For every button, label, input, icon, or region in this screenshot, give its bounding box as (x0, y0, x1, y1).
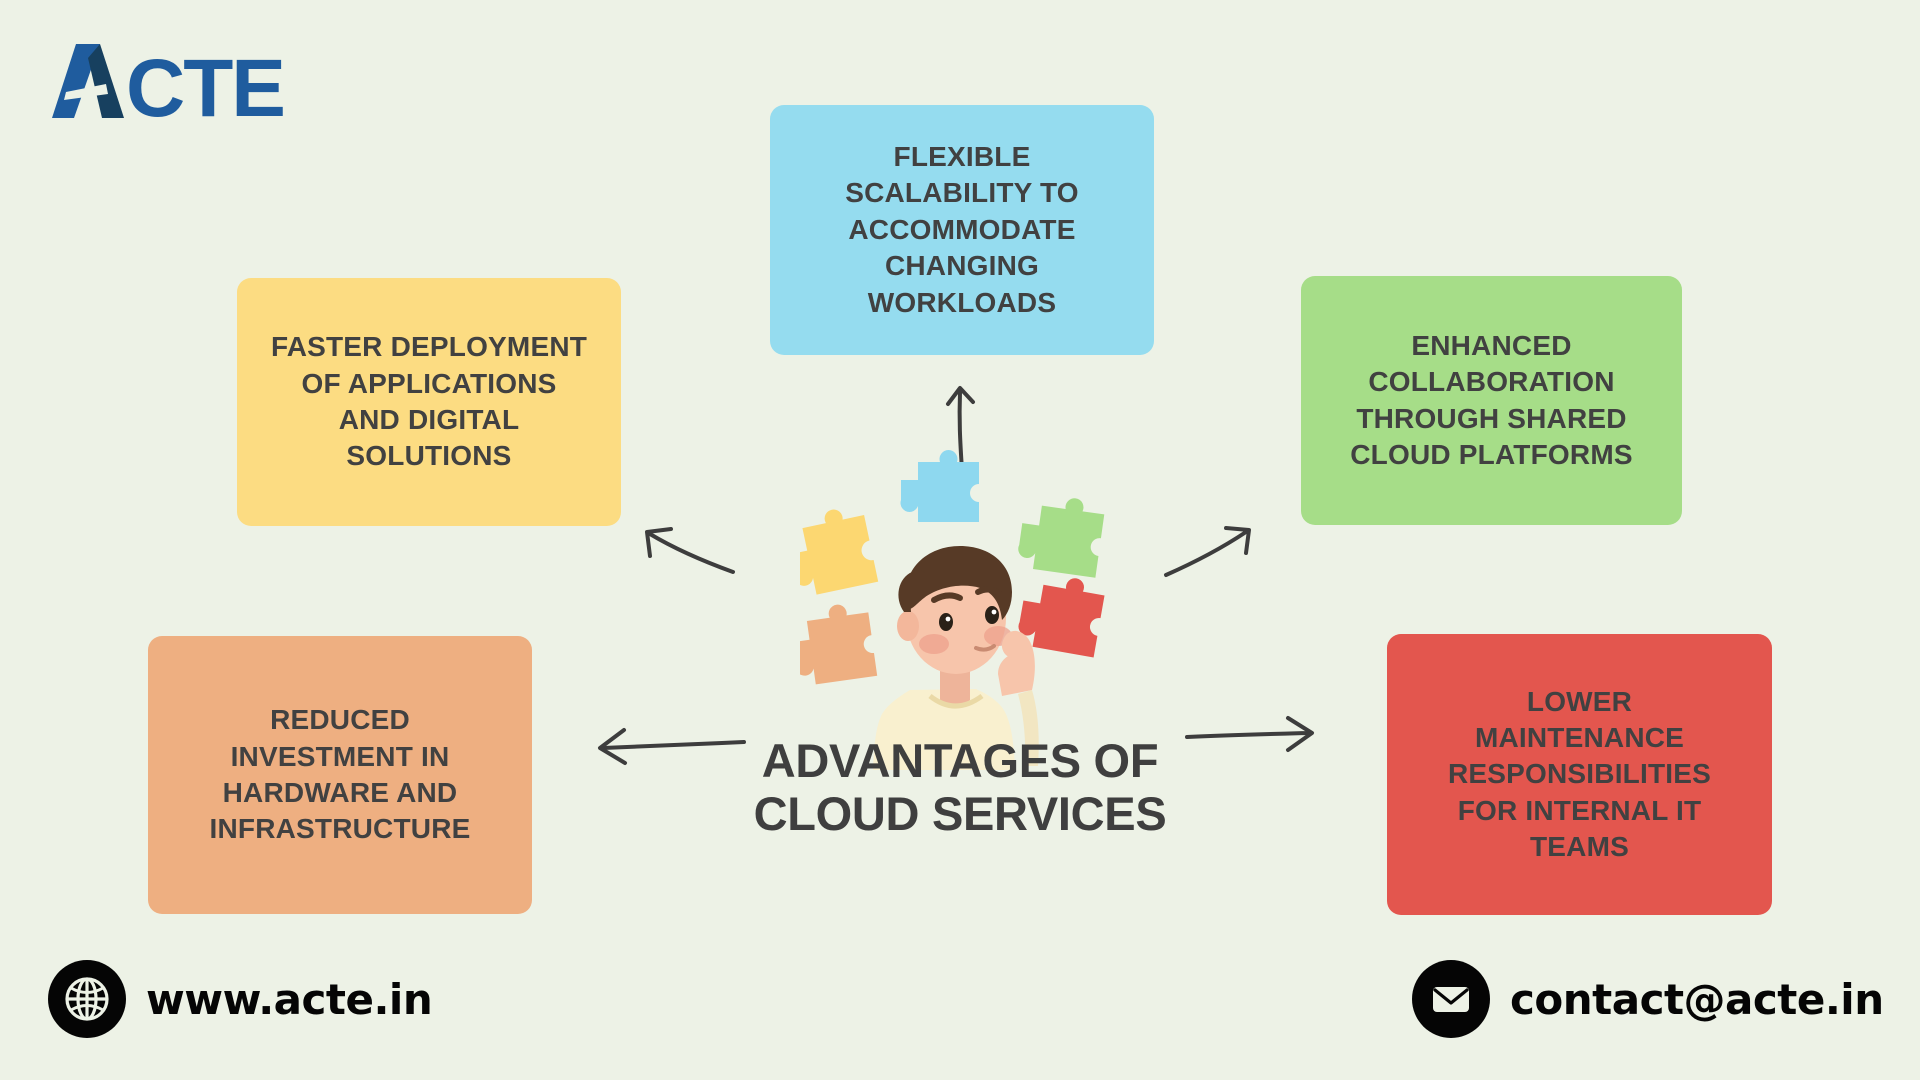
benefit-card-label: ENHANCED COLLABORATION THROUGH SHARED CL… (1350, 328, 1632, 474)
infographic-canvas: CTE FASTER DEPLOYMENT OF APPLICATIONS AN… (0, 0, 1920, 1080)
footer-email[interactable]: contact@acte.in (1412, 960, 1884, 1038)
thinking-person-illustration (800, 440, 1120, 770)
globe-icon (48, 960, 126, 1038)
puzzle-piece-green-icon (1016, 491, 1106, 577)
arrow-up-left-icon (647, 529, 733, 572)
acte-logo-mark (52, 44, 124, 118)
benefit-card-label: FASTER DEPLOYMENT OF APPLICATIONS AND DI… (271, 329, 587, 475)
website-label: www.acte.in (146, 975, 432, 1024)
email-label: contact@acte.in (1510, 975, 1884, 1024)
puzzle-piece-yellow-icon (800, 503, 878, 598)
benefit-card-enhanced-collaboration[interactable]: ENHANCED COLLABORATION THROUGH SHARED CL… (1301, 276, 1682, 525)
benefit-card-reduced-investment[interactable]: REDUCED INVESTMENT IN HARDWARE AND INFRA… (148, 636, 532, 914)
svg-text:CTE: CTE (126, 43, 284, 132)
benefit-card-faster-deployment[interactable]: FASTER DEPLOYMENT OF APPLICATIONS AND DI… (237, 278, 621, 526)
benefit-card-label: REDUCED INVESTMENT IN HARDWARE AND INFRA… (209, 702, 470, 848)
page-title: ADVANTAGES OF CLOUD SERVICES (660, 735, 1260, 840)
footer-website[interactable]: www.acte.in (48, 960, 432, 1038)
envelope-icon (1412, 960, 1490, 1038)
benefit-card-lower-maintenance[interactable]: LOWER MAINTENANCE RESPONSIBILITIES FOR I… (1387, 634, 1772, 915)
acte-logo: CTE (48, 36, 318, 132)
benefit-card-label: LOWER MAINTENANCE RESPONSIBILITIES FOR I… (1448, 684, 1711, 866)
benefit-card-label: FLEXIBLE SCALABILITY TO ACCOMMODATE CHAN… (845, 139, 1079, 321)
benefit-card-flexible-scalability[interactable]: FLEXIBLE SCALABILITY TO ACCOMMODATE CHAN… (770, 105, 1154, 355)
arrow-up-right-icon (1166, 528, 1249, 575)
puzzle-piece-orange-icon (800, 601, 877, 687)
puzzle-piece-blue-icon (901, 450, 980, 522)
